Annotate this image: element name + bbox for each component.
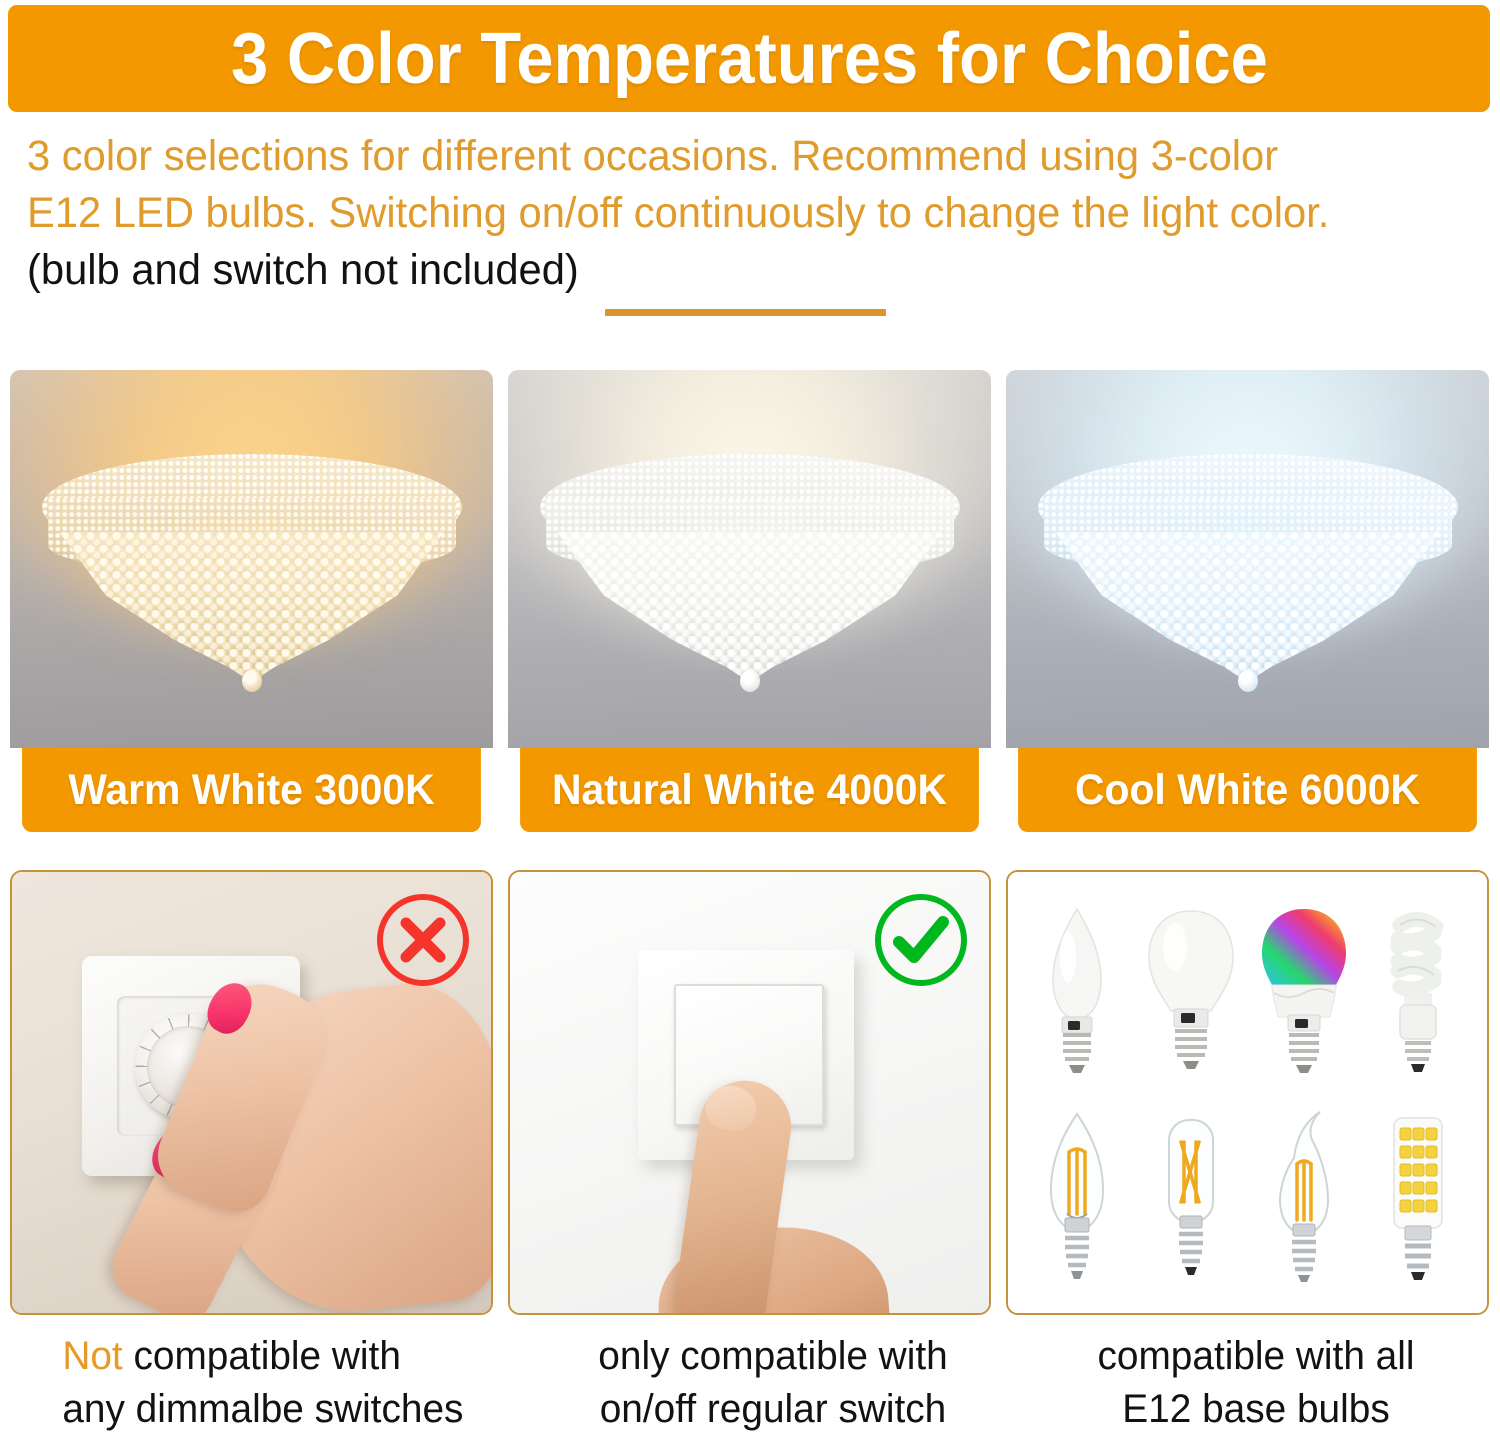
x-mark-icon [377, 894, 469, 986]
check-mark-icon [875, 894, 967, 986]
regular-switch-card [508, 870, 991, 1315]
color-temperature-card-natural: Natural White 4000K [508, 370, 991, 832]
color-temperature-label-warm: Warm White 3000K [22, 748, 481, 832]
crystal-ceiling-light-icon [540, 454, 960, 694]
caption-dimmer: Not compatible with any dimmalbe switche… [18, 1330, 517, 1436]
section-divider [605, 309, 886, 316]
color-temperature-label-cool: Cool White 6000K [1018, 748, 1477, 832]
intro-line-2: E12 LED bulbs. Switching on/off continuo… [27, 185, 1404, 242]
color-temperature-row: Warm White 3000K Natural White 4000K [10, 370, 1490, 832]
compatibility-row [10, 870, 1490, 1315]
page-title: 3 Color Temperatures for Choice [231, 23, 1268, 95]
intro-line-1: 3 color selections for different occasio… [27, 128, 1404, 185]
caption-row: Not compatible with any dimmalbe switche… [10, 1330, 1490, 1436]
frosted-candle-bulb-icon [1035, 901, 1119, 1077]
caption-text: only compatible with [546, 1330, 1000, 1383]
dimmer-switch-card [10, 870, 493, 1315]
caption-text-line2: any dimmalbe switches [62, 1383, 516, 1436]
color-temperature-card-warm: Warm White 3000K [10, 370, 493, 832]
cool-white-photo [1006, 370, 1489, 748]
caption-text-line2: E12 base bulbs [1029, 1383, 1483, 1436]
frosted-globe-bulb-icon [1145, 901, 1237, 1077]
caption-highlight: Not [62, 1334, 122, 1378]
caption-text: compatible with [123, 1334, 401, 1378]
crystal-ceiling-light-icon [42, 454, 462, 694]
led-corn-bulb-icon [1380, 1106, 1456, 1286]
filament-candle-bulb-icon [1035, 1106, 1119, 1286]
spiral-cfl-bulb-icon [1376, 901, 1460, 1077]
color-temperature-card-cool: Cool White 6000K [1006, 370, 1489, 832]
compatible-bulbs-card [1006, 870, 1489, 1315]
crystal-ceiling-light-icon [1038, 454, 1458, 694]
caption-text: compatible with all [1029, 1330, 1483, 1383]
caption-text-line2: on/off regular switch [546, 1383, 1000, 1436]
intro-line-3: (bulb and switch not included) [27, 242, 1404, 299]
intro-text-block: 3 color selections for different occasio… [27, 128, 1447, 299]
flame-tip-filament-bulb-icon [1260, 1106, 1348, 1286]
header-banner: 3 Color Temperatures for Choice [8, 5, 1490, 112]
filament-tube-bulb-icon [1153, 1106, 1229, 1286]
caption-regular-switch: only compatible with on/off regular swit… [546, 1330, 1000, 1436]
color-temperature-label-natural: Natural White 4000K [520, 748, 979, 832]
warm-white-photo [10, 370, 493, 748]
rgb-color-changing-bulb-icon [1258, 901, 1350, 1077]
caption-bulbs: compatible with all E12 base bulbs [1029, 1330, 1483, 1436]
natural-white-photo [508, 370, 991, 748]
